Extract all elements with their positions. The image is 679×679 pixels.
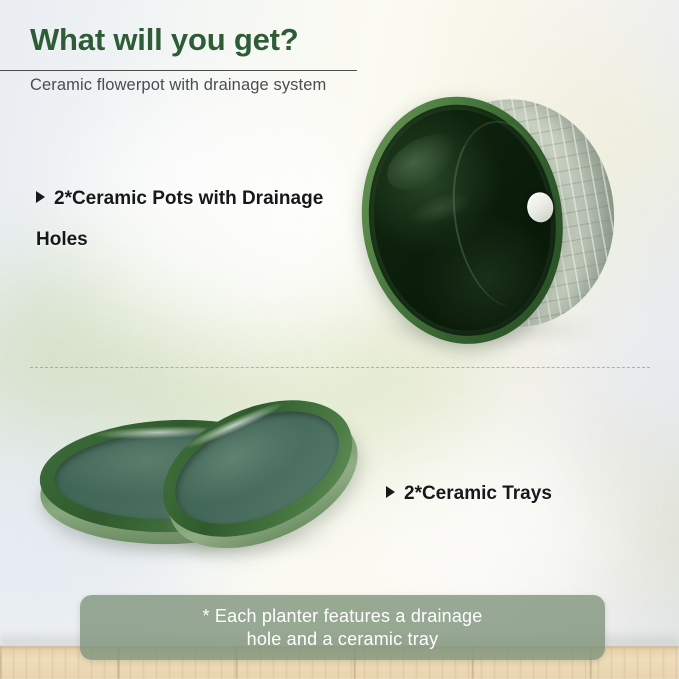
triangle-right-icon [36,191,45,203]
footnote-text: * Each planter features a drainage hole … [189,605,497,651]
feature-item-trays: 2*Ceramic Trays [386,473,552,514]
feature-label-pots: 2*Ceramic Pots with Drainage Holes [36,188,323,250]
feature-label-trays: 2*Ceramic Trays [404,483,552,504]
ceramic-pot-image [346,75,640,357]
feature-item-pots: 2*Ceramic Pots with Drainage Holes [36,178,336,260]
title-underline-rule [0,70,357,71]
page-subtitle: Ceramic flowerpot with drainage system [30,76,326,95]
page-title: What will you get? [30,22,299,58]
footnote-banner: * Each planter features a drainage hole … [80,595,605,660]
section-divider [30,367,650,368]
triangle-right-icon [386,486,395,498]
infographic-canvas: What will you get? Ceramic flowerpot wit… [0,0,679,679]
